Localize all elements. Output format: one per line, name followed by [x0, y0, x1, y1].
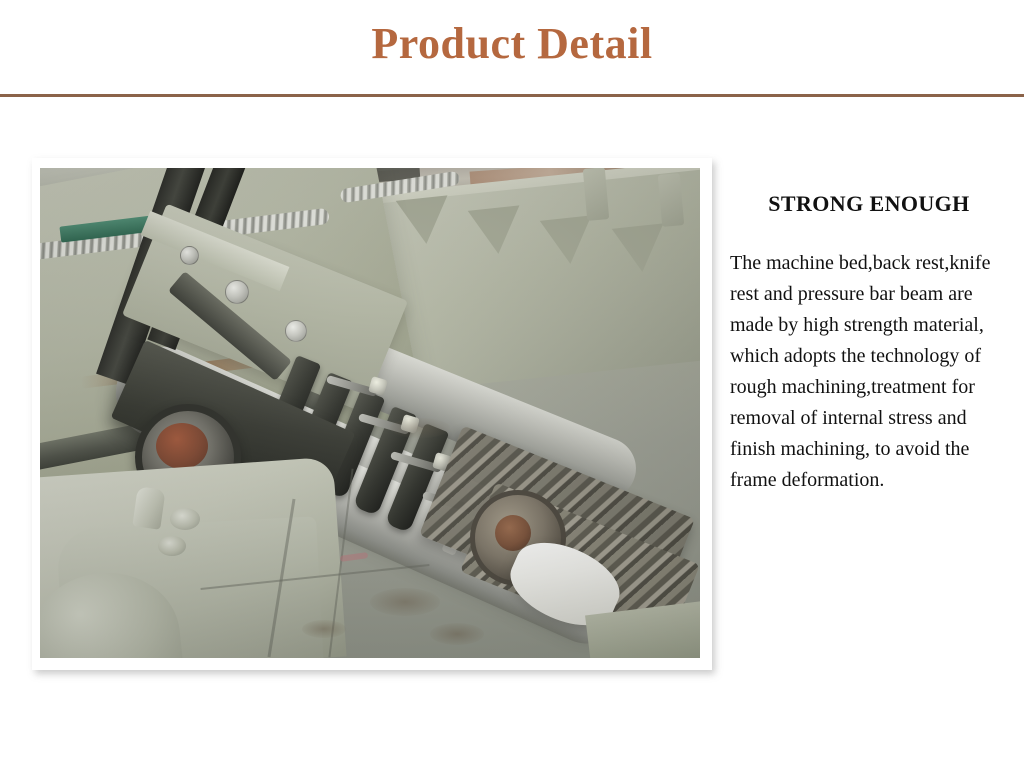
- photo-bed-gusset: [612, 223, 669, 274]
- feature-text-column: STRONG ENOUGH The machine bed,back rest,…: [726, 190, 1012, 496]
- page-header: Product Detail: [0, 0, 1024, 98]
- photo-floor-stain: [370, 588, 440, 616]
- photo-floor-stain: [390, 418, 450, 438]
- feature-heading: STRONG ENOUGH: [726, 190, 1012, 218]
- photo-floor-stain: [302, 620, 346, 638]
- photo-bed-post: [658, 173, 684, 227]
- product-photo-frame: [40, 168, 700, 658]
- photo-bed-gusset: [540, 215, 597, 266]
- product-photo: [40, 168, 700, 658]
- photo-bed-gusset: [468, 205, 525, 256]
- photo-floor-stain: [430, 623, 484, 645]
- photo-bed-post: [583, 168, 609, 221]
- photo-drive-hub-center: [156, 423, 208, 469]
- page-title: Product Detail: [0, 16, 1024, 72]
- product-photo-card: [32, 158, 712, 670]
- photo-bed-gusset: [396, 195, 453, 246]
- photo-bolt: [180, 246, 199, 265]
- feature-body-text: The machine bed,back rest,knife rest and…: [726, 248, 1012, 496]
- header-divider-rule: [0, 94, 1024, 97]
- photo-bolt: [225, 280, 249, 304]
- photo-control-knob: [132, 486, 165, 530]
- photo-control-knob: [170, 508, 200, 530]
- photo-bolt: [285, 320, 307, 342]
- photo-control-knob: [158, 536, 186, 556]
